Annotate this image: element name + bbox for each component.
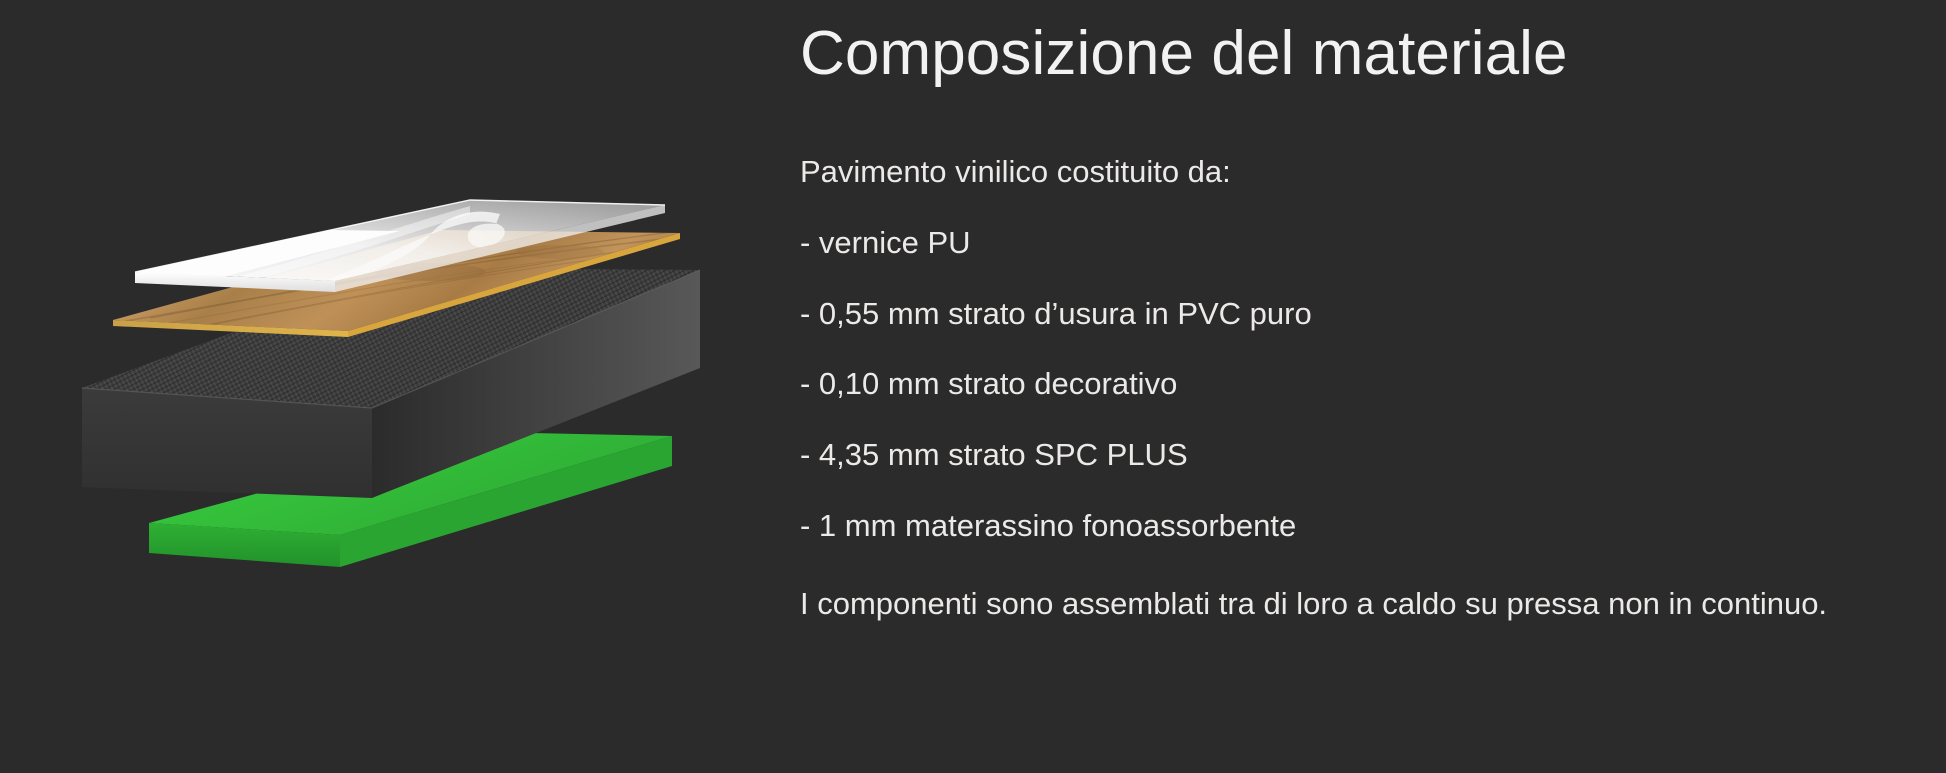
closing-paragraph: I componenti sono assemblati tra di loro… <box>800 580 1870 627</box>
spec-item-spc-plus: - 4,35 mm strato SPC PLUS <box>800 435 1188 475</box>
exploded-plank-diagram <box>0 0 780 773</box>
spec-item-wear-layer: - 0,55 mm strato d’usura in PVC puro <box>800 294 1312 334</box>
spec-item-acoustic-underlay: - 1 mm materassino fonoassorbente <box>800 506 1296 546</box>
intro-paragraph: Pavimento vinilico costituito da: <box>800 152 1231 192</box>
slide-canvas: Composizione del materiale Pavimento vin… <box>0 0 1946 773</box>
spec-item-vernice-pu: - vernice PU <box>800 223 971 263</box>
spec-item-decor-layer: - 0,10 mm strato decorativo <box>800 364 1177 404</box>
page-title: Composizione del materiale <box>800 18 1568 90</box>
text-column: Composizione del materiale Pavimento vin… <box>800 0 1900 773</box>
